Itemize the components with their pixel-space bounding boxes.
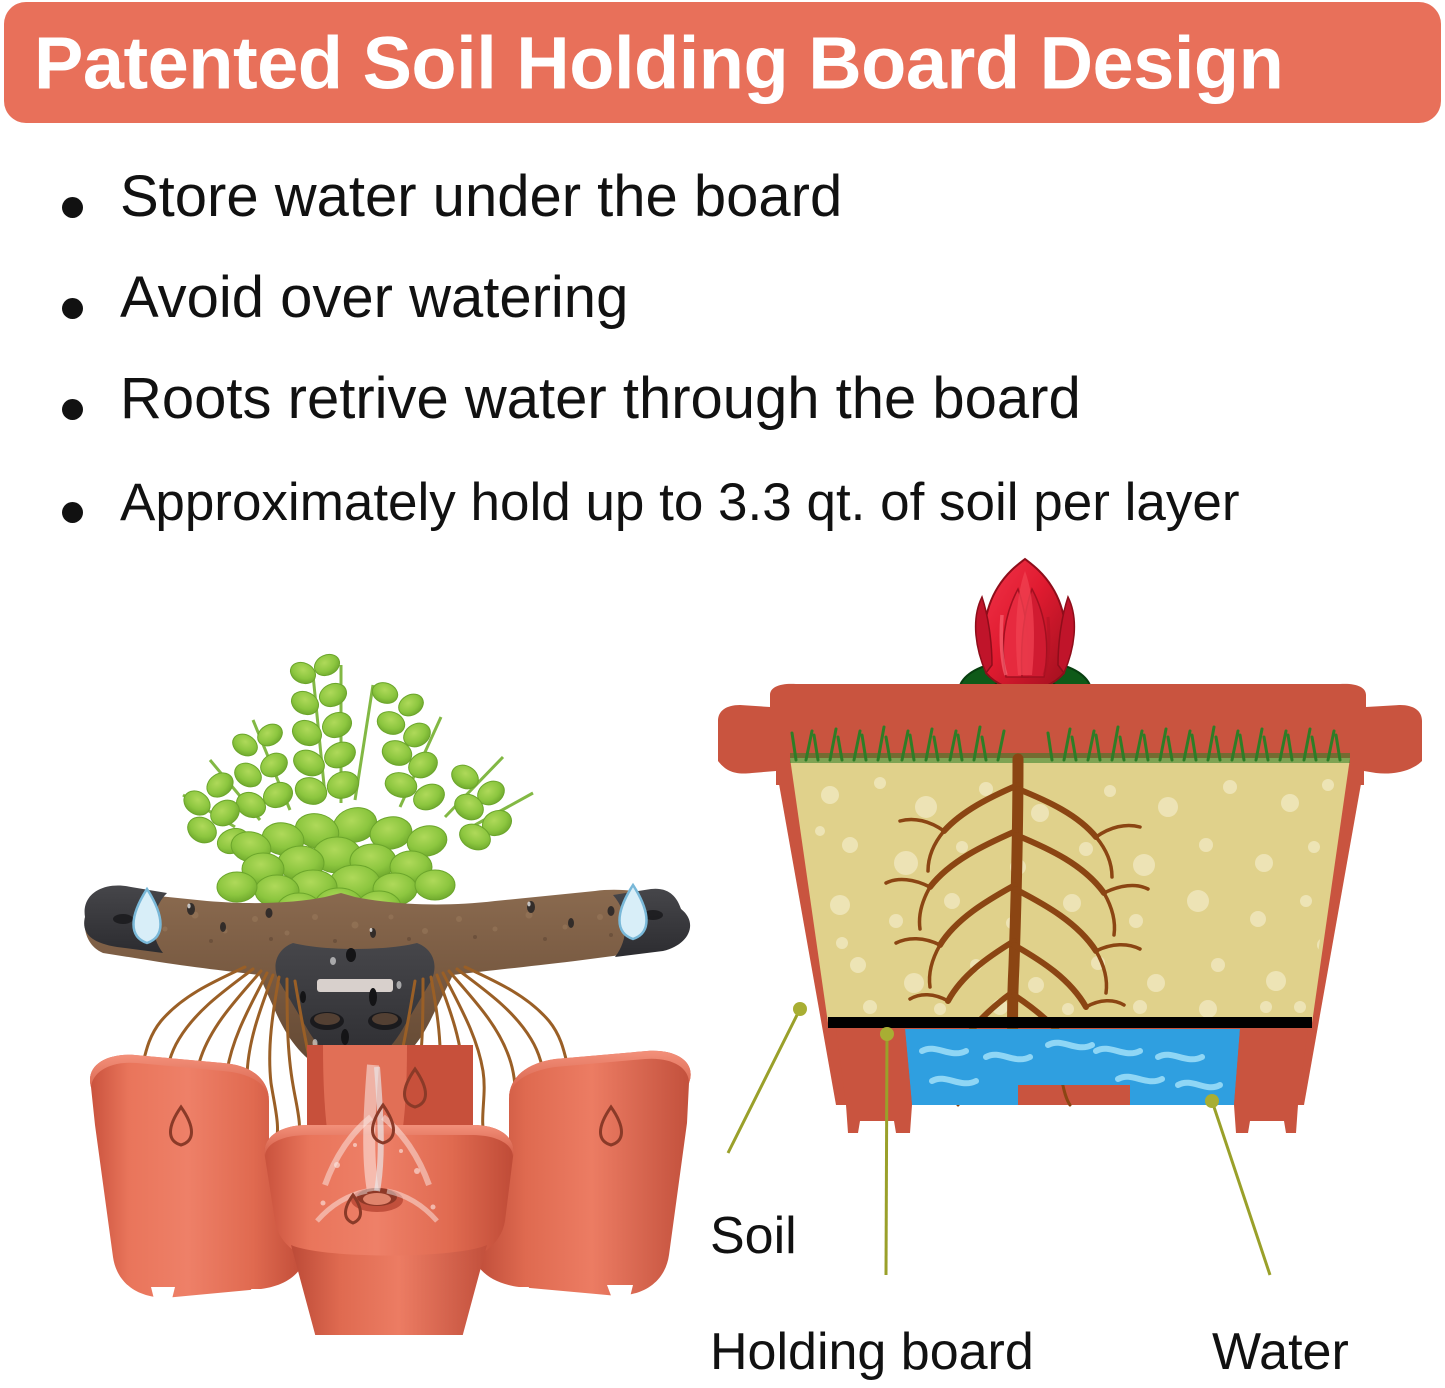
bullet-icon <box>62 399 83 420</box>
rose-bloom <box>976 559 1075 691</box>
header-banner: Patented Soil Holding Board Design <box>4 2 1441 123</box>
cross-section-diagram <box>700 545 1445 1388</box>
plant-foliage <box>179 650 533 925</box>
feature-label: Roots retrive water through the board <box>120 357 1081 428</box>
list-item: Roots retrive water through the board <box>0 357 1445 458</box>
bullet-icon <box>62 502 83 523</box>
feature-label: Store water under the board <box>120 155 842 226</box>
list-item: Approximately hold up to 3.3 qt. of soil… <box>0 458 1445 559</box>
holding-board-line <box>828 1017 1312 1028</box>
stacking-planter <box>90 1045 691 1335</box>
callout-label-holding-board: Holding board <box>710 1322 1034 1382</box>
feature-label: Approximately hold up to 3.3 qt. of soil… <box>120 458 1240 529</box>
callout-label-soil: Soil <box>710 1206 797 1266</box>
pot-wall-left <box>836 1029 912 1105</box>
bullet-icon <box>62 298 83 319</box>
pot-foot-right <box>1234 1105 1298 1133</box>
pot-foot-left <box>846 1105 912 1133</box>
callout-label-water: Water <box>1212 1322 1349 1382</box>
bullet-icon <box>62 197 83 218</box>
product-photo-stacking-planter <box>55 545 725 1335</box>
grass-base <box>790 753 1350 763</box>
list-item: Avoid over watering <box>0 256 1445 357</box>
list-item: Store water under the board <box>0 155 1445 256</box>
pot-wall-right <box>1234 1029 1308 1105</box>
feature-label: Avoid over watering <box>120 256 628 327</box>
feature-list: Store water under the board Avoid over w… <box>0 155 1445 559</box>
page-title: Patented Soil Holding Board Design <box>34 20 1283 105</box>
